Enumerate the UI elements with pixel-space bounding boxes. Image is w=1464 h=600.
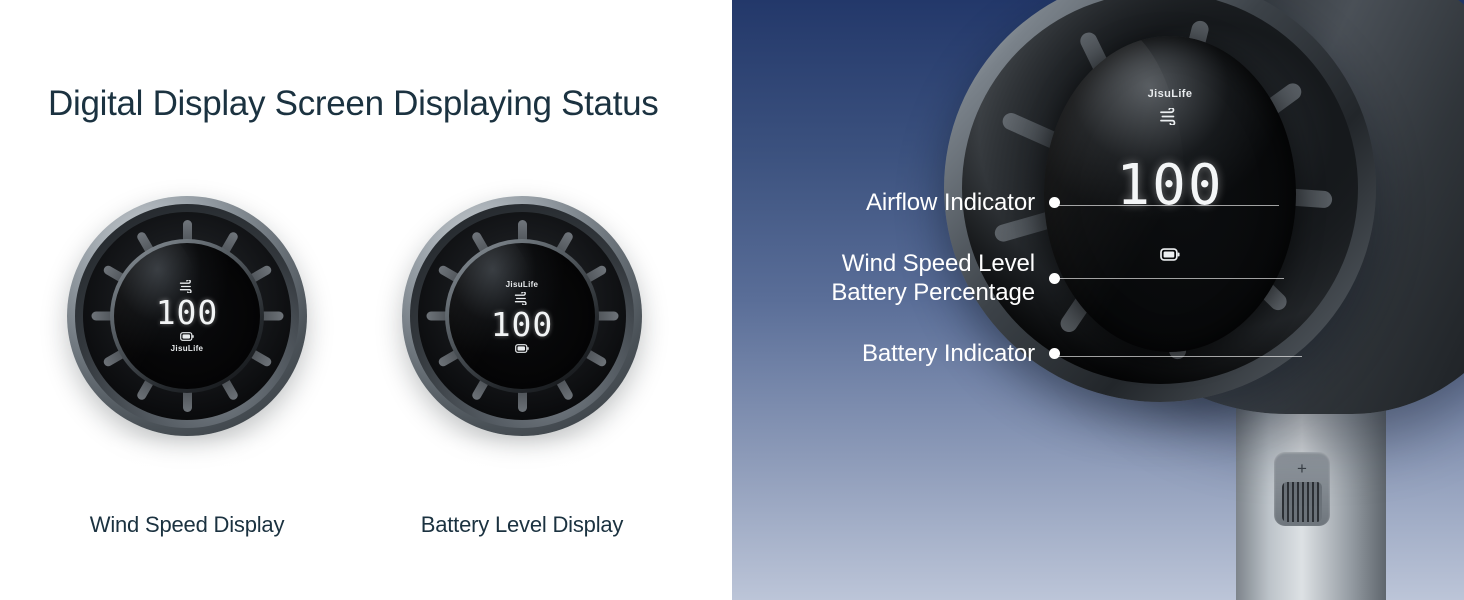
airflow-indicator-icon [179,280,196,293]
callout-label: Airflow Indicator [866,188,1035,217]
airflow-indicator-icon [514,292,531,305]
callout-battery-indicator: Battery Indicator [818,339,1060,368]
fan-bezel: 100 JisuLife [67,196,307,436]
display-brand-logo: JisuLife [1148,88,1193,100]
bottom-fade [372,436,672,496]
airflow-indicator-icon [1159,108,1181,130]
callout-label: Battery Indicator [862,339,1035,368]
fan-bezel: JisuLife 100 [402,196,642,436]
fan-caption-wind-speed: Wind Speed Display [37,512,337,538]
product-feature-graphic: Digital Display Screen Displaying Status [0,0,1464,600]
battery-indicator-icon [515,344,529,353]
fan-figure-battery-level: JisuLife 100 [372,196,672,496]
digital-display-screen: 100 JisuLife [114,243,260,389]
battery-indicator-icon [180,332,194,341]
display-digits: 100 [491,308,554,341]
callout-wind-speed-battery: Wind Speed Level Battery Percentage [794,249,1060,308]
display-digits: 100 [1116,158,1223,214]
page-title: Digital Display Screen Displaying Status [48,84,659,124]
product-digital-display: JisuLife 100 [1044,36,1296,352]
bottom-fade [37,436,337,496]
fan-assembly: 100 JisuLife [67,196,307,436]
display-digits: 100 [156,296,219,329]
right-panel: + JisuLife [732,0,1464,600]
display-brand-logo: JisuLife [171,344,204,353]
left-panel: Digital Display Screen Displaying Status [0,0,732,600]
fan-figure-wind-speed: 100 JisuLife [37,196,337,496]
leader-line-battery [1054,356,1302,357]
display-brand-logo: JisuLife [506,280,539,289]
callout-airflow-indicator: Airflow Indicator [820,188,1060,217]
fan-caption-battery-level: Battery Level Display [372,512,672,538]
callout-label: Wind Speed Level Battery Percentage [831,249,1035,308]
digital-display-screen: JisuLife 100 [449,243,595,389]
battery-indicator-icon [1160,248,1180,266]
fan-assembly: JisuLife 100 [402,196,642,436]
